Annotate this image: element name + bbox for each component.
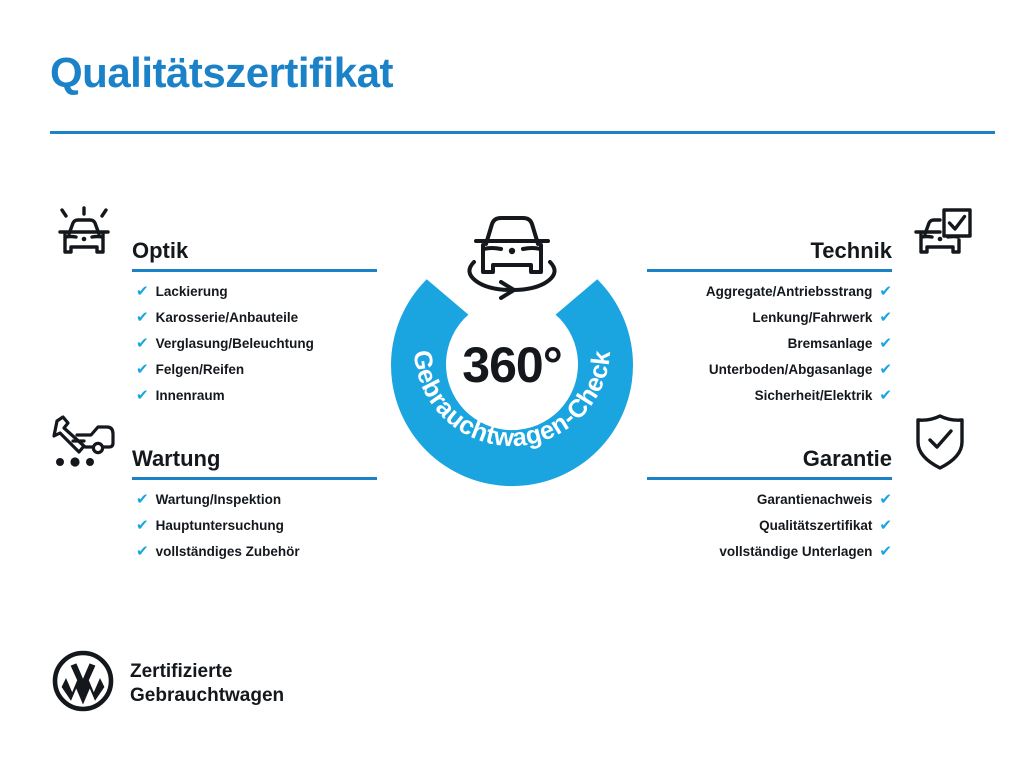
check-icon: ✔ (136, 544, 149, 559)
list-item-label: Bremsanlage (788, 337, 873, 351)
section-optik: Optik ✔Lackierung ✔Karosserie/Anbauteile… (40, 200, 385, 414)
checklist-optik: ✔Lackierung ✔Karosserie/Anbauteile ✔Verg… (40, 284, 385, 403)
list-item-label: Lackierung (156, 285, 228, 299)
list-item-label: Qualitätszertifikat (759, 519, 872, 533)
list-item-label: Karosserie/Anbauteile (156, 311, 299, 325)
list-item: ✔Wartung/Inspektion (40, 492, 385, 507)
list-item: ✔Unterboden/Abgasanlage (639, 362, 984, 377)
check-icon: ✔ (136, 362, 149, 377)
list-item: ✔Aggregate/Antriebsstrang (639, 284, 984, 299)
shield-check-icon (900, 410, 980, 474)
list-item: ✔Lenkung/Fahrwerk (639, 310, 984, 325)
list-item: ✔vollständige Unterlagen (639, 544, 984, 559)
car-shine-icon (44, 202, 124, 266)
list-item: ✔Innenraum (40, 388, 385, 403)
section-underline (132, 477, 377, 480)
section-title: Garantie (647, 447, 892, 477)
vw-lockup-text: Zertifizierte Gebrauchtwagen (130, 660, 284, 708)
list-item-label: Innenraum (156, 389, 225, 403)
vw-lockup-line2: Gebrauchtwagen (130, 684, 284, 708)
list-item: ✔Hauptuntersuchung (40, 518, 385, 533)
list-item-label: Aggregate/Antriebsstrang (706, 285, 873, 299)
check-icon: ✔ (879, 388, 892, 403)
checklist-garantie: ✔Garantienachweis ✔Qualitätszertifikat ✔… (639, 492, 984, 559)
badge-360-gebrauchtwagen-check: Gebrauchtwagen-Check 360° (378, 196, 646, 488)
section-header: Optik (40, 200, 385, 272)
section-underline (647, 477, 892, 480)
section-technik: Technik ✔Aggregate/Antriebsstrang ✔Lenku… (639, 200, 984, 414)
wrench-car-icon (44, 410, 124, 474)
list-item-label: Unterboden/Abgasanlage (709, 363, 873, 377)
list-item: ✔vollständiges Zubehör (40, 544, 385, 559)
title-divider (50, 131, 995, 134)
section-underline (647, 269, 892, 272)
list-item-label: Sicherheit/Elektrik (755, 389, 873, 403)
check-icon: ✔ (136, 518, 149, 533)
list-item: ✔Qualitätszertifikat (639, 518, 984, 533)
vw-certified-lockup: Zertifizierte Gebrauchtwagen (52, 650, 284, 717)
section-title: Technik (647, 239, 892, 269)
list-item: ✔Karosserie/Anbauteile (40, 310, 385, 325)
check-icon: ✔ (136, 492, 149, 507)
list-item: ✔Bremsanlage (639, 336, 984, 351)
list-item-label: Felgen/Reifen (156, 363, 245, 377)
car-checkbox-icon (900, 202, 980, 266)
certificate-page: Qualitätszertifikat Optik (0, 0, 1024, 768)
car-rotation-icon (469, 218, 554, 298)
section-wartung: Wartung ✔Wartung/Inspektion ✔Hauptunters… (40, 408, 385, 570)
list-item: ✔Garantienachweis (639, 492, 984, 507)
check-icon: ✔ (136, 310, 149, 325)
check-icon: ✔ (879, 284, 892, 299)
check-icon: ✔ (879, 336, 892, 351)
check-icon: ✔ (136, 336, 149, 351)
check-icon: ✔ (879, 492, 892, 507)
checklist-wartung: ✔Wartung/Inspektion ✔Hauptuntersuchung ✔… (40, 492, 385, 559)
list-item: ✔Sicherheit/Elektrik (639, 388, 984, 403)
check-icon: ✔ (879, 310, 892, 325)
section-header: Technik (639, 200, 984, 272)
list-item-label: Verglasung/Beleuchtung (156, 337, 314, 351)
check-icon: ✔ (136, 388, 149, 403)
list-item: ✔Verglasung/Beleuchtung (40, 336, 385, 351)
list-item: ✔Lackierung (40, 284, 385, 299)
check-icon: ✔ (879, 362, 892, 377)
vw-logo-icon (52, 650, 114, 717)
checklist-technik: ✔Aggregate/Antriebsstrang ✔Lenkung/Fahrw… (639, 284, 984, 403)
section-garantie: Garantie ✔Garantienachweis ✔Qualitätszer… (639, 408, 984, 570)
section-title: Wartung (132, 447, 377, 477)
section-underline (132, 269, 377, 272)
check-icon: ✔ (879, 544, 892, 559)
check-icon: ✔ (879, 518, 892, 533)
list-item-label: vollständige Unterlagen (719, 545, 872, 559)
section-header: Wartung (40, 408, 385, 480)
page-title: Qualitätszertifikat (50, 50, 393, 96)
list-item-label: Garantienachweis (757, 493, 873, 507)
list-item-label: vollständiges Zubehör (156, 545, 300, 559)
list-item-label: Wartung/Inspektion (156, 493, 282, 507)
check-icon: ✔ (136, 284, 149, 299)
section-header: Garantie (639, 408, 984, 480)
list-item-label: Hauptuntersuchung (156, 519, 284, 533)
list-item: ✔Felgen/Reifen (40, 362, 385, 377)
vw-lockup-line1: Zertifizierte (130, 660, 284, 684)
list-item-label: Lenkung/Fahrwerk (752, 311, 872, 325)
badge-degrees: 360° (378, 336, 646, 394)
section-title: Optik (132, 239, 377, 269)
